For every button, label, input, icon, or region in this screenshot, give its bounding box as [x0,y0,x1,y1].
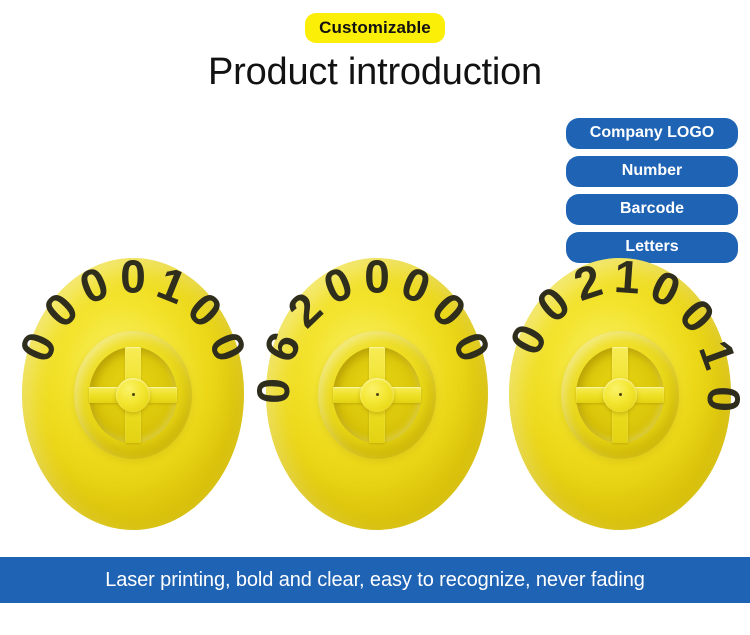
ear-tag-1: 0000100 [8,252,258,537]
tag-collar [561,331,679,459]
feature-badge-list: Company LOGO Number Barcode Letters [566,118,738,263]
tag-ring [333,347,421,443]
customizable-badge: Customizable [305,13,445,43]
tag-pinhole [132,393,135,396]
feature-badge-barcode: Barcode [566,194,738,225]
tag-pinhole [376,393,379,396]
tag-collar [318,331,436,459]
bottom-banner-text: Laser printing, bold and clear, easy to … [105,570,645,590]
page-title: Product introduction [0,51,750,95]
tag-pinhole [619,393,622,396]
tag-dome [603,378,637,412]
tag-dome [360,378,394,412]
tag-collar [74,331,192,459]
page-header: Customizable Product introduction [0,0,750,95]
tag-dome [116,378,150,412]
ear-tag-3: 00210010 [495,252,745,537]
bottom-banner: Laser printing, bold and clear, easy to … [0,557,750,603]
feature-badge-number: Number [566,156,738,187]
feature-badge-company-logo: Company LOGO [566,118,738,149]
tag-ring [89,347,177,443]
ear-tag-2: 06200000 [252,252,502,537]
product-tag-row: 0000100 06200000 00210010 [0,252,750,537]
tag-ring [576,347,664,443]
